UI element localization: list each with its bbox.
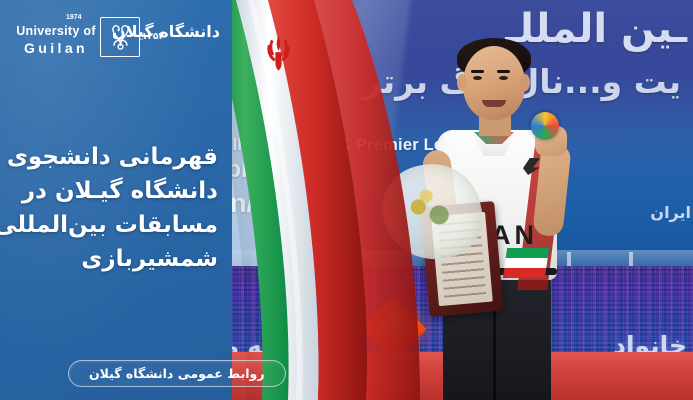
athlete-head [463,46,525,120]
public-relations-badge[interactable]: روابط عمومی دانشگاه گیلان [68,360,286,387]
athlete-eye-left [473,76,482,80]
athlete-brow-right [497,70,510,73]
athlete-eye-right [499,76,508,80]
headline: قهرمانی دانشجوی دانشگاه گیـلان در مسابقا… [13,140,218,276]
gold-medal-icon [531,112,559,140]
athlete-brow-left [471,70,484,73]
headline-line-4: شمشیربازی [13,242,218,276]
photo-content: ـین المللـ یت و...نال لیگ برتر Satellite… [215,0,693,400]
news-banner: ـین المللـ یت و...نال لیگ برتر Satellite… [0,0,693,400]
logo-name-english-line2: Guilan [14,40,98,56]
banner-persian-right: ایران [650,203,691,222]
bouquet-flowers [397,179,465,241]
logo-name-persian: دانشگاه گیلان [134,22,220,41]
headline-line-2: دانشگاه گیـلان در [13,174,218,208]
logo-year-english: 1974 [66,14,82,21]
headline-line-3: مسابقات بین‌المللی [13,208,218,242]
athlete-figure: IRAN [419,34,589,400]
university-logo[interactable]: 1974 University of Guilan ۱۳۵۲ دانشگاه گ… [14,18,174,62]
text-panel: 1974 University of Guilan ۱۳۵۲ دانشگاه گ… [0,0,232,400]
athlete-ear-left [457,74,467,91]
headline-line-1: قهرمانی دانشجوی [13,140,218,174]
athlete-mouth [482,100,506,107]
logo-name-english-line1: University of [14,24,98,38]
jersey-flag-icon [503,248,549,278]
event-photo: ـین المللـ یت و...نال لیگ برتر Satellite… [215,0,693,400]
athlete-ear-right [520,74,530,91]
